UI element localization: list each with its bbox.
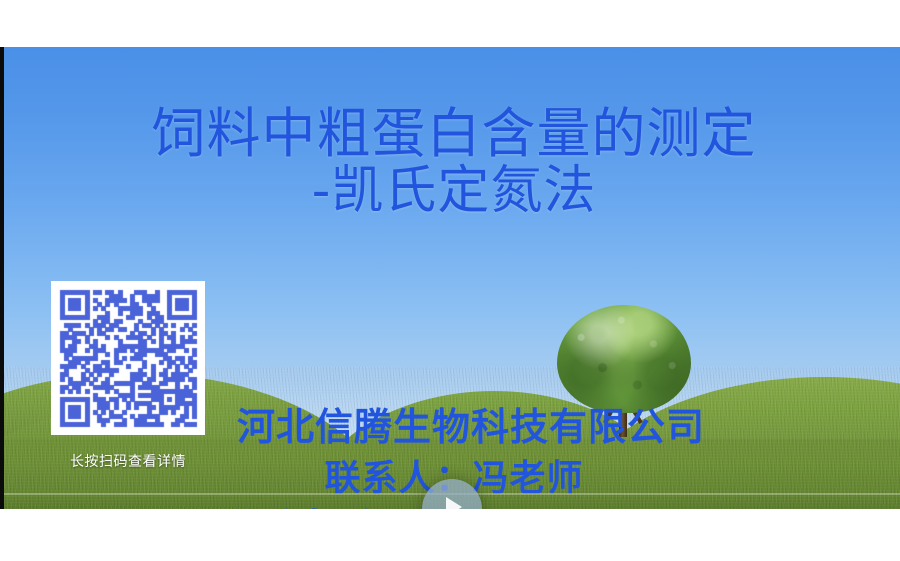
- tree-canopy-texture: [557, 305, 691, 413]
- play-triangle-icon: [446, 497, 462, 509]
- title-line-1: 饲料中粗蛋白含量的测定: [4, 105, 900, 162]
- page-root: 饲料中粗蛋白含量的测定 -凯氏定氮法 长按扫码查看详情 河北信腾生物科技有限公司…: [0, 0, 900, 561]
- company-name: 河北信腾生物科技有限公司: [38, 405, 900, 451]
- title-line-2: -凯氏定氮法: [4, 164, 900, 219]
- video-player[interactable]: 饲料中粗蛋白含量的测定 -凯氏定氮法 长按扫码查看详情 河北信腾生物科技有限公司…: [0, 47, 900, 509]
- poster-title: 饲料中粗蛋白含量的测定 -凯氏定氮法: [4, 105, 900, 219]
